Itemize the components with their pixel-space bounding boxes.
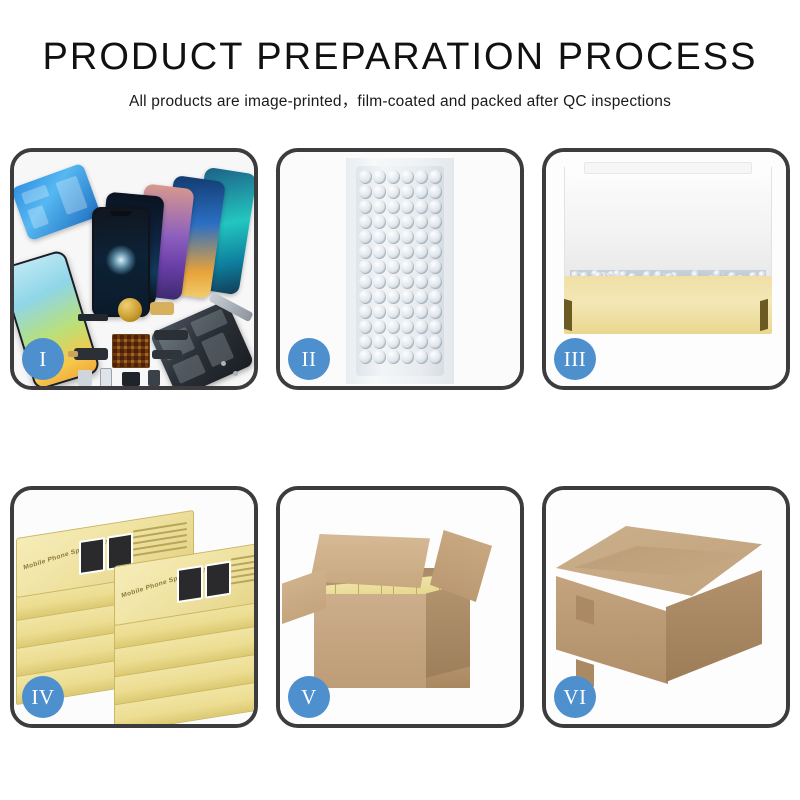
yellow-box-tray: [564, 276, 772, 334]
bubble: [401, 260, 414, 274]
component-flex-cable-2: [154, 330, 188, 340]
bubble: [387, 350, 400, 364]
bubble: [429, 260, 442, 274]
step-badge-4: IV: [22, 676, 64, 718]
bubble: [373, 305, 386, 319]
bubble: [359, 350, 372, 364]
bubble: [373, 290, 386, 304]
process-step-panel-5: V: [276, 486, 524, 728]
bubble: [401, 185, 414, 199]
box-print-screen: [177, 565, 203, 603]
bubble: [373, 170, 386, 184]
process-step-panel-3: III: [542, 148, 790, 390]
bubble: [359, 215, 372, 229]
bubble: [415, 290, 428, 304]
bubble: [415, 305, 428, 319]
bubble: [415, 170, 428, 184]
bubble: [373, 275, 386, 289]
component-coil: [118, 298, 142, 322]
page-subtitle: All products are image-printed，film-coat…: [0, 89, 800, 111]
bubble: [401, 290, 414, 304]
box-edge-left: [564, 299, 572, 331]
component-chip: [122, 372, 140, 386]
step-badge-3: III: [554, 338, 596, 380]
bubble: [429, 275, 442, 289]
bubble: [359, 260, 372, 274]
bubble: [401, 170, 414, 184]
box-print-screen: [205, 561, 231, 599]
bubble: [373, 260, 386, 274]
bubble: [415, 320, 428, 334]
component-bar: [78, 314, 108, 321]
bubble: [359, 290, 372, 304]
bubble: [401, 275, 414, 289]
bubble: [387, 335, 400, 349]
bubble: [429, 350, 442, 364]
process-steps-grid: I II III: [10, 148, 790, 728]
bubble: [373, 245, 386, 259]
bubble: [429, 290, 442, 304]
bubble: [401, 320, 414, 334]
bubble: [359, 305, 372, 319]
bubble: [415, 335, 428, 349]
bubble: [415, 260, 428, 274]
bubble: [387, 200, 400, 214]
bubble: [429, 335, 442, 349]
bubble: [359, 170, 372, 184]
bubble: [387, 260, 400, 274]
bubble: [359, 335, 372, 349]
bubble: [359, 245, 372, 259]
bubble: [401, 335, 414, 349]
component-screw-1: [233, 371, 238, 376]
bubble: [387, 320, 400, 334]
carton-flap-back: [310, 534, 430, 588]
process-step-panel-2: II: [276, 148, 524, 390]
box-print-text-lines: [231, 550, 254, 593]
bubble: [429, 320, 442, 334]
bubble: [359, 320, 372, 334]
process-step-panel-4: Mobile Phone Spare PartsMobile Phone Spa…: [10, 486, 258, 728]
bubble: [401, 245, 414, 259]
bubble: [401, 215, 414, 229]
header: PRODUCT PREPARATION PROCESS All products…: [0, 0, 800, 111]
process-step-panel-1: I: [10, 148, 258, 390]
bubble: [359, 185, 372, 199]
component-flex-cable-3: [152, 350, 182, 359]
bubble: [415, 350, 428, 364]
component-flex-cable-1: [74, 348, 108, 360]
bubble: [373, 200, 386, 214]
bubble: [429, 245, 442, 259]
component-speaker: [78, 370, 92, 386]
bubble: [429, 305, 442, 319]
bubble: [415, 245, 428, 259]
step-badge-1: I: [22, 338, 64, 380]
bubble: [429, 170, 442, 184]
step-badge-6: VI: [554, 676, 596, 718]
box-lid-lip: [584, 162, 752, 174]
bubble: [415, 215, 428, 229]
box-edge-right: [760, 299, 768, 331]
bubble: [415, 230, 428, 244]
bubble: [373, 215, 386, 229]
bubble: [429, 185, 442, 199]
bubble: [387, 245, 400, 259]
bubble-wrap-packet: [356, 166, 444, 376]
component-gold-contact: [150, 302, 174, 315]
bubble: [415, 185, 428, 199]
component-connector-grid: [112, 334, 150, 368]
bubble: [387, 170, 400, 184]
bubble: [401, 305, 414, 319]
bubble: [429, 230, 442, 244]
page-title: PRODUCT PREPARATION PROCESS: [0, 38, 800, 76]
bubble: [373, 350, 386, 364]
bubble: [401, 350, 414, 364]
bubble: [387, 290, 400, 304]
step-badge-5: V: [288, 676, 330, 718]
bubble: [373, 320, 386, 334]
bubble: [373, 335, 386, 349]
bubble: [359, 230, 372, 244]
bubble: [373, 185, 386, 199]
component-screw-2: [221, 361, 226, 366]
component-battery-tab: [148, 370, 160, 386]
bubble: [359, 200, 372, 214]
bubble: [387, 305, 400, 319]
step-badge-2: II: [288, 338, 330, 380]
box-print-screen: [79, 537, 105, 575]
bubble: [387, 185, 400, 199]
bubble: [429, 200, 442, 214]
bubble: [415, 200, 428, 214]
bubble: [401, 230, 414, 244]
bubble: [373, 230, 386, 244]
product-preparation-process-page: PRODUCT PREPARATION PROCESS All products…: [0, 0, 800, 800]
bubble: [387, 230, 400, 244]
bubble: [415, 275, 428, 289]
carton-front: [314, 594, 426, 688]
bubble: [401, 200, 414, 214]
bubble: [387, 215, 400, 229]
component-button: [100, 368, 112, 386]
bubble: [429, 215, 442, 229]
bubble: [359, 275, 372, 289]
bubble: [387, 275, 400, 289]
process-step-panel-6: VI: [542, 486, 790, 728]
